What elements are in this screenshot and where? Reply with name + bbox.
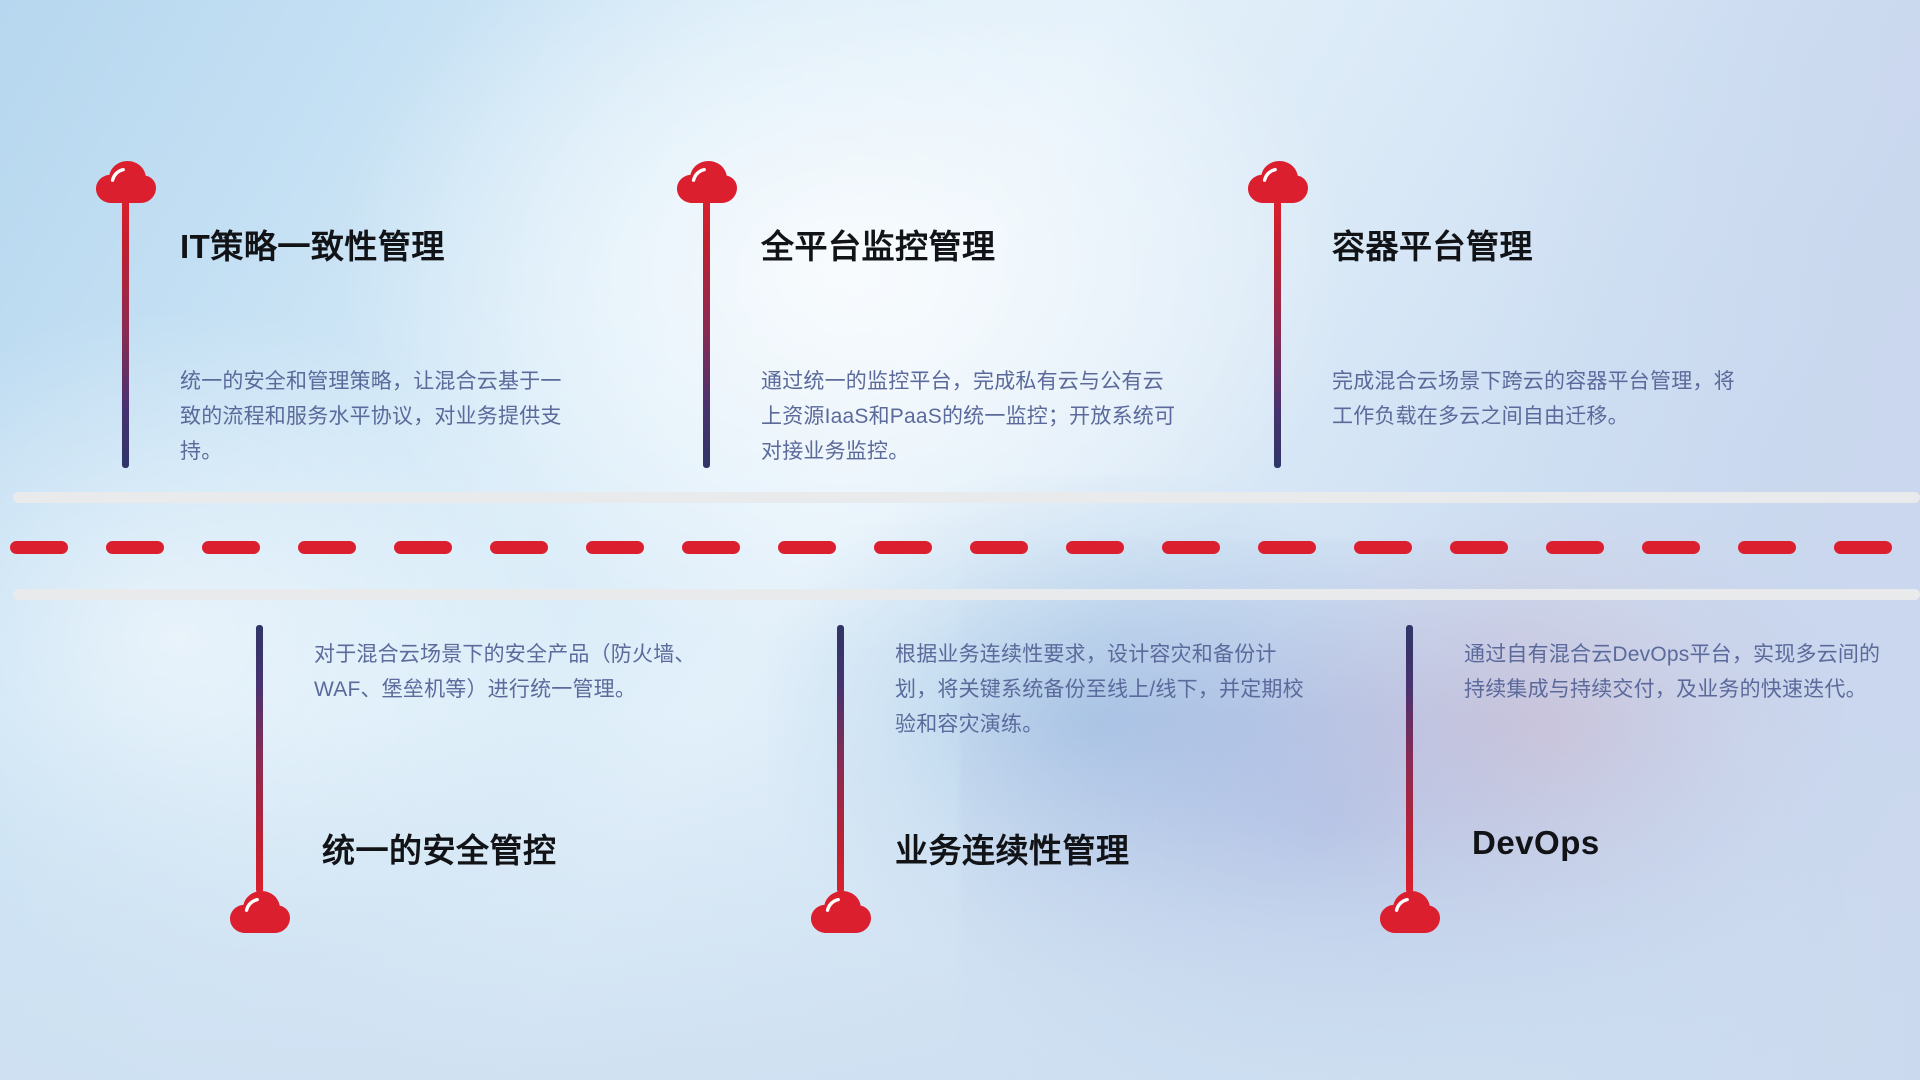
divider-dash [106, 541, 164, 554]
top-column-2-heading: 全平台监控管理 [761, 220, 996, 268]
top-column-3-body: 完成混合云场景下跨云的容器平台管理，将工作负载在多云之间自由迁移。 [1332, 364, 1752, 434]
divider-dash [1066, 541, 1124, 554]
cloud-icon [95, 160, 157, 204]
divider-dash [1738, 541, 1796, 554]
divider-dash [1450, 541, 1508, 554]
divider-dash [490, 541, 548, 554]
cloud-icon [1247, 160, 1309, 204]
connector-stem [703, 200, 710, 468]
divider-dash [10, 541, 68, 554]
connector-stem [837, 625, 844, 893]
connector-stem [1274, 200, 1281, 468]
top-column-3-heading: 容器平台管理 [1332, 220, 1533, 268]
divider-dash [1834, 541, 1892, 554]
divider-dash [1258, 541, 1316, 554]
divider-dash [1354, 541, 1412, 554]
bottom-column-1-body: 对于混合云场景下的安全产品（防火墙、WAF、堡垒机等）进行统一管理。 [314, 637, 704, 707]
divider-dash [1642, 541, 1700, 554]
divider-dash [394, 541, 452, 554]
divider-band [0, 492, 1920, 602]
top-column-1-body: 统一的安全和管理策略，让混合云基于一致的流程和服务水平协议，对业务提供支持。 [180, 364, 570, 469]
divider-dash [970, 541, 1028, 554]
bottom-column-2-body: 根据业务连续性要求，设计容灾和备份计划，将关键系统备份至线上/线下，并定期校验和… [895, 637, 1315, 742]
cloud-icon [676, 160, 738, 204]
divider-dash [778, 541, 836, 554]
divider-dash [298, 541, 356, 554]
divider-dash [1162, 541, 1220, 554]
cloud-icon [1379, 890, 1441, 934]
divider-dash [1546, 541, 1604, 554]
divider-dash [682, 541, 740, 554]
connector-stem [1406, 625, 1413, 893]
top-column-2-body: 通过统一的监控平台，完成私有云与公有云上资源IaaS和PaaS的统一监控；开放系… [761, 364, 1181, 469]
connector-stem [256, 625, 263, 893]
divider-dashed-line [10, 540, 1920, 554]
bottom-column-2-heading: 业务连续性管理 [895, 824, 1130, 872]
top-column-1-heading: IT策略一致性管理 [180, 220, 445, 268]
cloud-icon [810, 890, 872, 934]
connector-stem [122, 200, 129, 468]
divider-dash [202, 541, 260, 554]
bottom-column-3-body: 通过自有混合云DevOps平台，实现多云间的持续集成与持续交付，及业务的快速迭代… [1464, 637, 1884, 707]
divider-dash [586, 541, 644, 554]
divider-dash [874, 541, 932, 554]
divider-rail-top [13, 492, 1920, 503]
cloud-icon [229, 890, 291, 934]
divider-rail-bottom [13, 589, 1920, 600]
bottom-column-3-heading: DevOps [1472, 824, 1600, 862]
bottom-column-1-heading: 统一的安全管控 [322, 824, 557, 872]
